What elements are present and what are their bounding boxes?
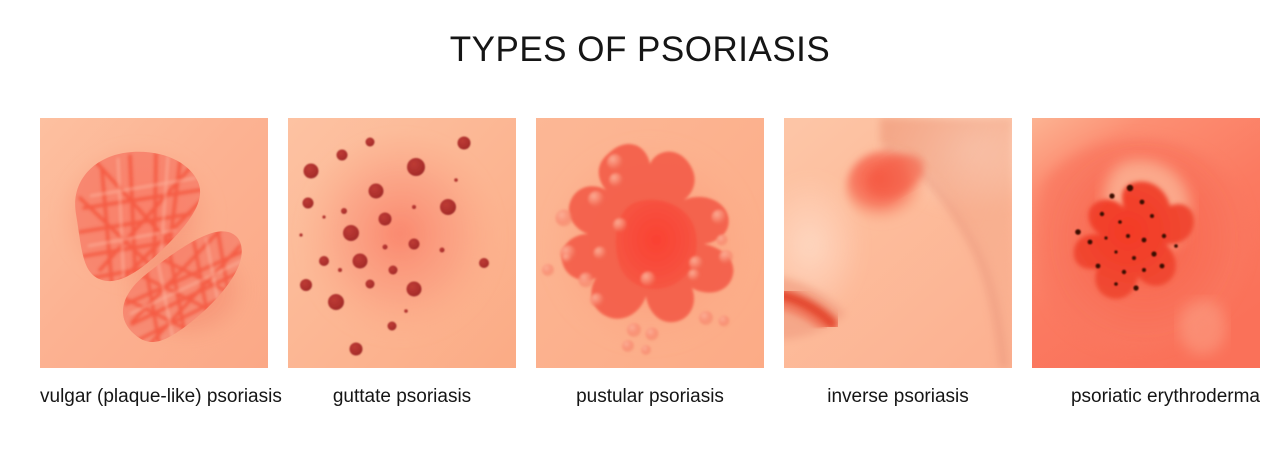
caption-inverse: inverse psoriasis <box>827 386 969 408</box>
skin-swatch-pustular <box>536 118 764 368</box>
page-title: TYPES OF PSORIASIS <box>0 30 1280 70</box>
skin-swatch-guttate <box>288 118 516 368</box>
panel-row: vulgar (plaque-like) psoriasis <box>40 118 1260 368</box>
caption-pustular: pustular psoriasis <box>576 386 724 408</box>
panel-inverse[interactable]: inverse psoriasis <box>784 118 1012 368</box>
infographic-root: TYPES OF PSORIASIS <box>0 0 1280 449</box>
skin-swatch-plaque <box>40 118 268 368</box>
skin-swatch-erythroderma <box>1032 118 1260 368</box>
caption-guttate: guttate psoriasis <box>333 386 471 408</box>
panel-plaque[interactable]: vulgar (plaque-like) psoriasis <box>40 118 268 368</box>
caption-plaque: vulgar (plaque-like) psoriasis <box>40 386 282 408</box>
panel-pustular[interactable]: pustular psoriasis <box>536 118 764 368</box>
panel-guttate[interactable]: guttate psoriasis <box>288 118 516 368</box>
skin-swatch-inverse <box>784 118 1012 368</box>
panel-erythroderma[interactable]: psoriatic erythroderma <box>1032 118 1260 368</box>
caption-erythroderma: psoriatic erythroderma <box>1071 386 1260 408</box>
